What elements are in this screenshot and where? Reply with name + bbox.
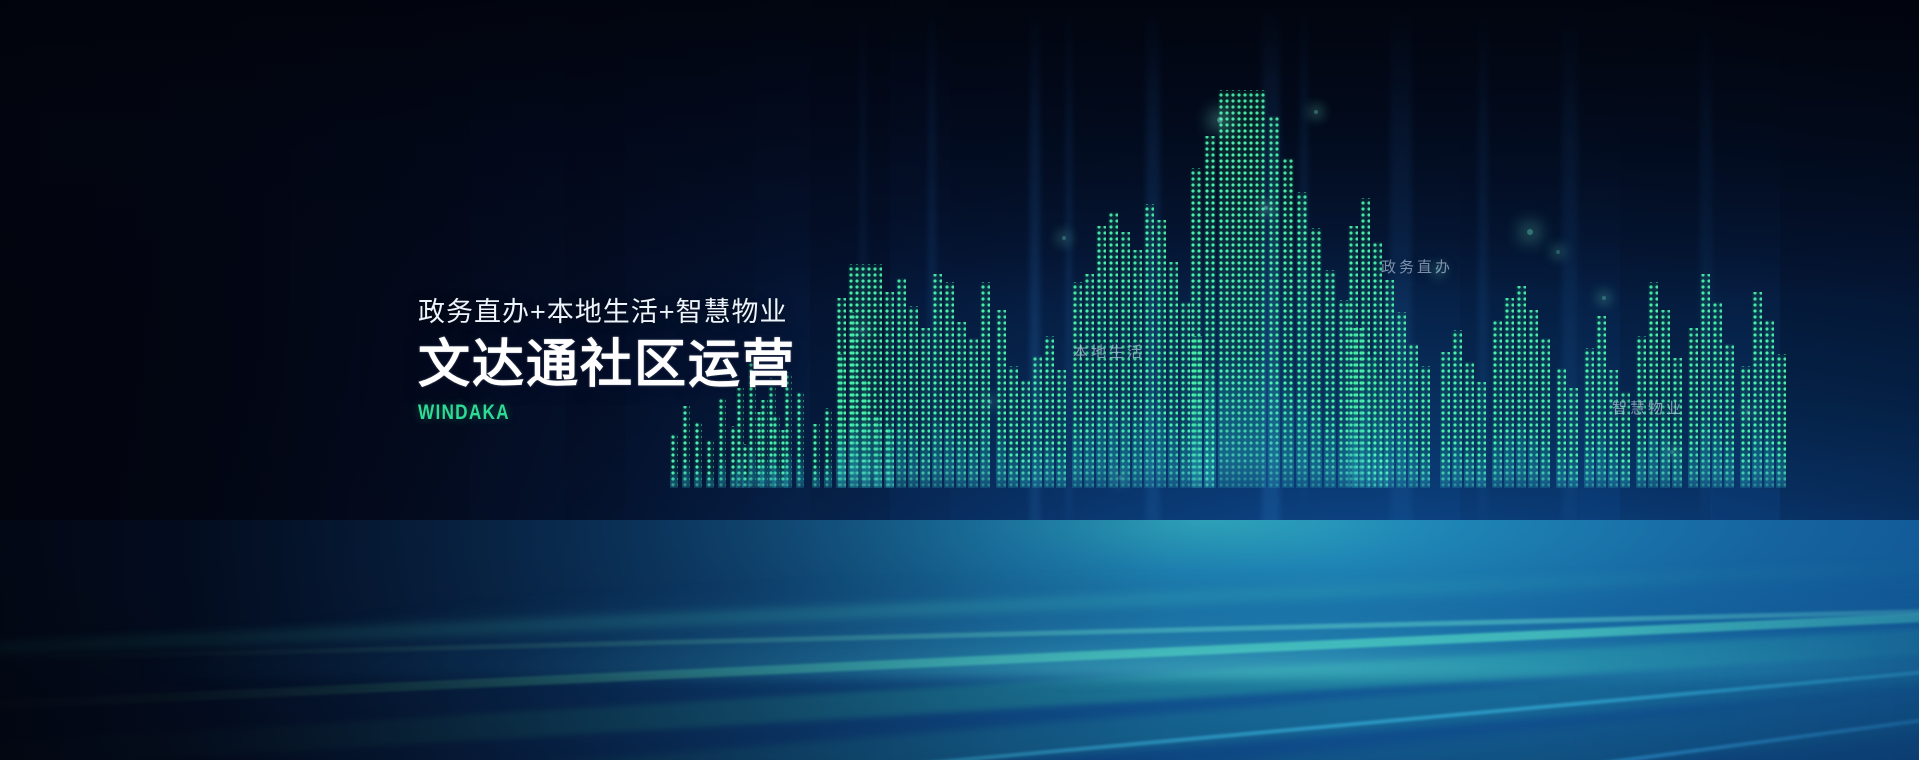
sparkle-dot <box>1556 250 1560 254</box>
hero-banner: 政务直办本地生活智慧物业 政务直办+本地生活+智慧物业 文达通社区运营 WIND… <box>0 0 1919 760</box>
light-beam <box>1478 0 1488 560</box>
sparkle-dot <box>1670 450 1674 454</box>
light-beam <box>860 0 866 460</box>
sparkle-dot <box>1746 410 1750 414</box>
background-top-shade <box>0 0 1919 300</box>
sparkle-dot <box>1314 110 1318 114</box>
sparkle-dot <box>1217 117 1223 123</box>
light-beam <box>928 0 936 500</box>
horizon-glow <box>0 548 1919 678</box>
banner-subtitle: 政务直办+本地生活+智慧物业 <box>418 296 796 330</box>
district-label-3: 智慧物业 <box>1612 397 1684 418</box>
sparkle-dot <box>1264 206 1268 210</box>
banner-title: 文达通社区运营 <box>418 337 796 393</box>
light-beam <box>1390 0 1412 600</box>
light-beam <box>1562 0 1578 600</box>
sparkle-dot <box>860 328 864 332</box>
light-beam <box>1146 0 1160 600</box>
sparkle-dot <box>1118 476 1122 480</box>
light-beam <box>1300 0 1308 520</box>
horizon-line <box>0 553 1919 662</box>
headline-block: 政务直办+本地生活+智慧物业 文达通社区运营 WINDAKA <box>418 296 796 425</box>
sparkle-dot <box>1062 236 1066 240</box>
sparkle-dot <box>988 400 992 404</box>
district-label-2: 本地生活 <box>1073 341 1145 362</box>
sparkle-dot <box>1527 229 1533 235</box>
sparkle-dot <box>1602 296 1606 300</box>
brand-name: WINDAKA <box>418 401 728 425</box>
light-beam <box>1700 0 1712 560</box>
light-beam <box>1066 0 1072 560</box>
district-label-1: 政务直办 <box>1381 256 1453 277</box>
